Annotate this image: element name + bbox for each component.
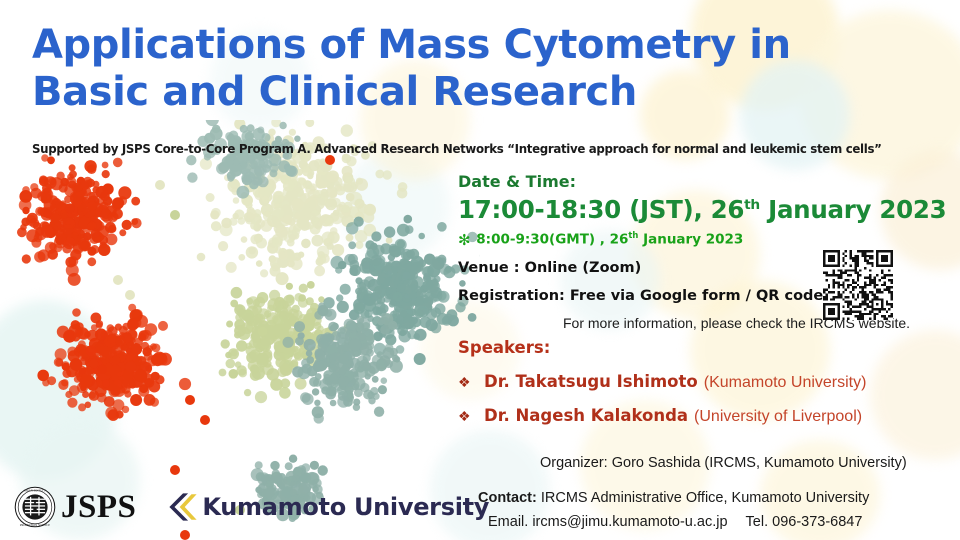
svg-text:JAPAN SOCIETY: JAPAN SOCIETY: [24, 488, 47, 492]
qr-code-icon[interactable]: [818, 250, 898, 320]
diamond-bullet-icon: ❖: [458, 375, 484, 389]
jsps-wordmark: JSPS: [61, 491, 136, 524]
list-item: ❖ Dr. Nagesh Kalakonda (University of Li…: [458, 406, 958, 426]
subtitle-support-line: Supported by JSPS Core-to-Core Program A…: [32, 142, 915, 156]
speaker-affiliation: (University of Liverpool): [694, 408, 862, 426]
poster-root: Applications of Mass Cytometry in Basic …: [0, 0, 960, 540]
speaker-name: Dr. Nagesh Kalakonda: [484, 406, 688, 425]
date-time-value: 17:00-18:30 (JST), 26th January 2023: [458, 194, 958, 225]
organizer-line: Organizer: Goro Sashida (IRCMS, Kumamoto…: [540, 455, 907, 471]
jsps-seal-icon: JAPAN SOCIETY PROMOTION SCIENCE: [14, 486, 56, 528]
gmt-post: January 2023: [638, 232, 743, 248]
contact-value: IRCMS Administrative Office, Kumamoto Un…: [537, 490, 870, 506]
gmt-time-value: ✻ 8:00-9:30(GMT) , 26th January 2023: [458, 230, 958, 250]
list-item: ❖ Dr. Takatsugu Ishimoto (Kumamoto Unive…: [458, 372, 958, 392]
svg-text:PROMOTION SCIENCE: PROMOTION SCIENCE: [20, 523, 50, 527]
contact-email[interactable]: Email. ircms@jimu.kumamoto-u.ac.jp: [488, 514, 728, 530]
date-main-ordinal: th: [744, 197, 760, 213]
logo-row: JAPAN SOCIETY PROMOTION SCIENCE JSPS Kum…: [14, 486, 489, 528]
more-information-note: For more information, please check the I…: [563, 315, 958, 331]
contact-tel: Tel. 096-373-6847: [746, 514, 863, 530]
contact-block: Contact: IRCMS Administrative Office, Ku…: [478, 487, 869, 535]
title-line-2: Basic and Clinical Research: [32, 69, 832, 116]
date-main-pre: 17:00-18:30 (JST), 26: [458, 195, 744, 224]
kumamoto-wordmark: Kumamoto University: [202, 495, 489, 519]
date-main-post: January 2023: [760, 195, 946, 224]
speaker-name: Dr. Takatsugu Ishimoto: [484, 372, 698, 391]
diamond-bullet-icon: ❖: [458, 409, 484, 423]
poster-content: Applications of Mass Cytometry in Basic …: [0, 0, 960, 540]
gmt-pre: 8:00-9:30(GMT) , 26: [476, 232, 628, 248]
date-time-label: Date & Time:: [458, 172, 958, 192]
gmt-ordinal: th: [628, 230, 638, 240]
page-title: Applications of Mass Cytometry in Basic …: [32, 22, 832, 116]
speaker-affiliation: (Kumamoto University): [704, 374, 867, 392]
contact-office-line: Contact: IRCMS Administrative Office, Ku…: [478, 487, 869, 511]
speakers-label: Speakers:: [458, 338, 958, 358]
asterisk-icon: ✻: [458, 231, 471, 249]
chevron-left-icon: [166, 490, 200, 524]
jsps-logo: JAPAN SOCIETY PROMOTION SCIENCE JSPS: [14, 486, 136, 528]
contact-email-line: Email. ircms@jimu.kumamoto-u.ac.jpTel. 0…: [488, 511, 869, 535]
kumamoto-university-logo: Kumamoto University: [166, 490, 489, 524]
title-line-1: Applications of Mass Cytometry in: [32, 22, 832, 69]
